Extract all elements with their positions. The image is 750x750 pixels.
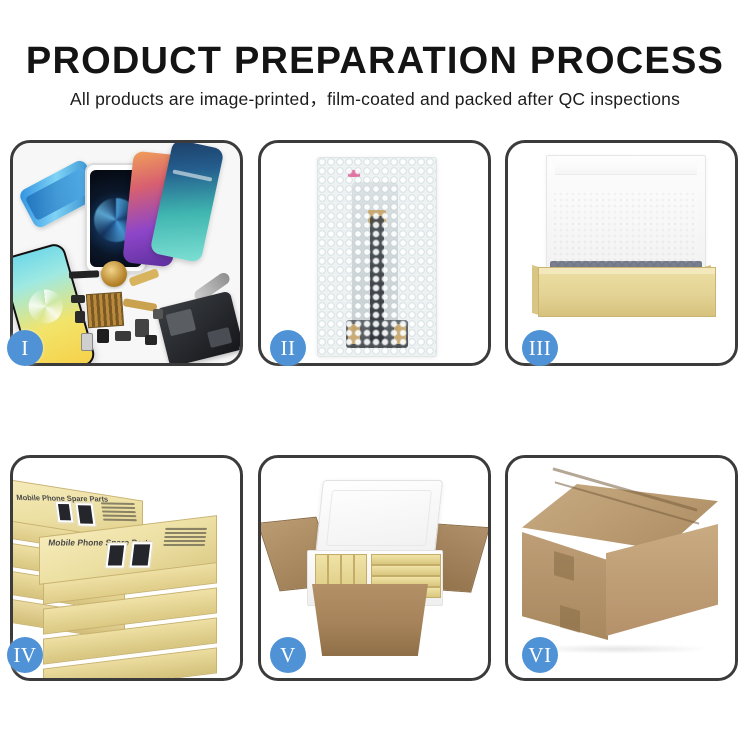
carton-body-image <box>307 584 433 656</box>
copper-coil-part-icon <box>101 261 127 287</box>
bubble-texture <box>318 158 436 356</box>
step-panel-1[interactable] <box>10 140 243 366</box>
bubble-wrap-bag-image <box>317 157 437 357</box>
small-part-icon <box>153 309 163 319</box>
process-steps-grid: I II <box>0 0 750 750</box>
product-preparation-infographic: PRODUCT PREPARATION PROCESS All products… <box>0 0 750 750</box>
box-spec-lines <box>163 528 207 548</box>
small-part-icon <box>75 311 85 323</box>
kraft-box-tray-image <box>538 267 716 317</box>
small-part-icon <box>145 335 157 345</box>
step-badge-1: I <box>7 330 43 366</box>
small-part-icon <box>97 329 109 343</box>
box-product-thumbnail <box>55 501 75 524</box>
box-stack-image: Mobile Phone Spare Parts Mobile Phone Sp… <box>13 476 240 676</box>
small-part-icon <box>81 333 93 351</box>
box-product-thumbnail <box>128 541 153 568</box>
step-image-1 <box>13 143 240 363</box>
yellow-box <box>371 554 441 565</box>
box-product-thumbnail <box>104 542 127 568</box>
box-product-thumbnail <box>74 502 96 527</box>
step-image-4: Mobile Phone Spare Parts Mobile Phone Sp… <box>13 458 240 678</box>
small-part-icon <box>71 295 85 303</box>
step-badge-2: II <box>270 330 306 366</box>
chip-grid-part-icon <box>86 292 124 328</box>
yellow-box <box>371 565 441 576</box>
step-badge-6: VI <box>522 637 558 673</box>
foam-box-lid-image <box>315 480 443 556</box>
step-badge-5: V <box>270 637 306 673</box>
step-image-2 <box>261 143 488 363</box>
step-badge-4: IV <box>7 637 43 673</box>
small-part-icon <box>115 331 131 341</box>
box-spec-lines <box>101 502 137 523</box>
step-panel-4[interactable]: Mobile Phone Spare Parts Mobile Phone Sp… <box>10 455 243 681</box>
step-badge-3: III <box>522 330 558 366</box>
